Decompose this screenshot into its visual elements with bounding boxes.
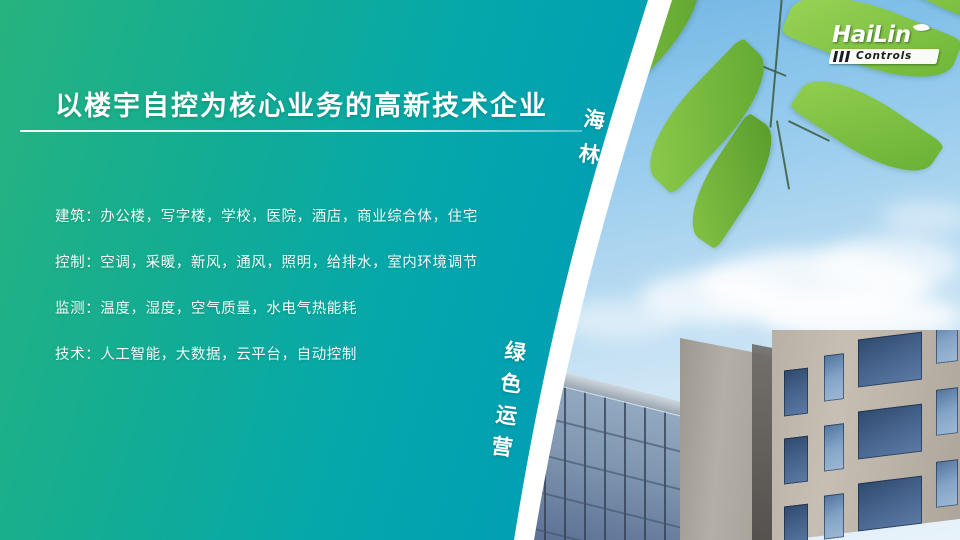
building-main-facade: 海林自控 — [772, 330, 960, 540]
logo-subtitle: Controls — [856, 50, 912, 62]
logo-tick-marks-icon — [833, 51, 850, 62]
list-item: 控制：空调，采暖，新风，通风，照明，给排水，室内环境调节 — [55, 256, 525, 271]
list-item: 技术：人工智能，大数据，云平台，自动控制 — [55, 348, 525, 363]
slide-content: 以楼宇自控为核心业务的高新技术企业 建筑：办公楼，写字楼，学校，医院，酒店，商业… — [0, 0, 620, 540]
list-item: 建筑：办公楼，写字楼，学校，医院，酒店，商业综合体，住宅 — [55, 210, 525, 225]
slide-canvas: 海林自控 以楼宇自控为核心业务的高新技术企业 建筑：办公楼，写字楼，学校，医院，… — [0, 0, 960, 540]
page-title: 以楼宇自控为核心业务的高新技术企业 — [55, 84, 548, 123]
title-underline — [20, 130, 582, 132]
logo-wordmark: HaiLin — [832, 22, 911, 48]
leaf-accent-icon — [913, 21, 930, 35]
leaf-icon — [789, 61, 945, 191]
list-item: 监测：温度，湿度，空气质量，水电气热能耗 — [55, 302, 525, 317]
hailin-logo: HaiLin Controls — [830, 22, 940, 66]
bullet-list: 建筑：办公楼，写字楼，学校，医院，酒店，商业综合体，住宅 控制：空调，采暖，新风… — [55, 210, 525, 394]
